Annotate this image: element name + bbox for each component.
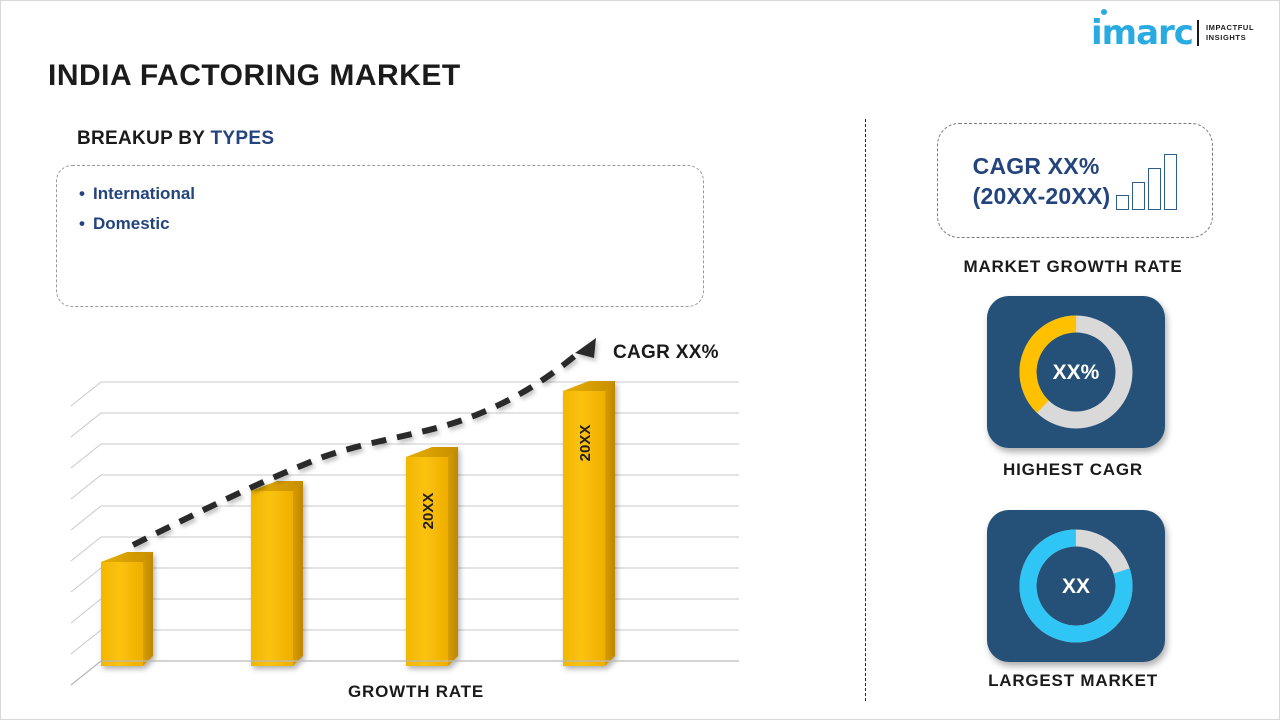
cagr-card-text: CAGR XX% (20XX-20XX) bbox=[973, 151, 1111, 211]
logo-divider bbox=[1197, 20, 1199, 46]
largest-market-caption: LARGEST MARKET bbox=[865, 671, 1280, 691]
chart-x-axis-caption: GROWTH RATE bbox=[348, 682, 484, 702]
largest-market-value: XX bbox=[1062, 575, 1090, 598]
trend-arrowhead bbox=[575, 338, 596, 358]
bar-growth-icon-bar-1 bbox=[1116, 195, 1129, 210]
logo-wordmark: imarc bbox=[1091, 16, 1193, 50]
logo-tagline: IMPACTFUL INSIGHTS bbox=[1206, 23, 1254, 43]
bar-label-4: 20XX bbox=[577, 425, 594, 462]
types-list: International Domestic bbox=[57, 166, 703, 239]
list-item: International bbox=[79, 179, 703, 209]
panel-divider bbox=[865, 119, 866, 701]
breakup-accent: TYPES bbox=[211, 128, 275, 149]
logo-text: imarc bbox=[1091, 13, 1193, 53]
highest-cagr-value: XX% bbox=[1053, 361, 1100, 384]
bar-column-2 bbox=[251, 481, 303, 666]
list-item: Domestic bbox=[79, 209, 703, 239]
logo-tagline-line2: INSIGHTS bbox=[1206, 33, 1254, 43]
chart-gridlines bbox=[71, 382, 739, 685]
types-list-box: International Domestic bbox=[56, 165, 704, 307]
bar-column-3 bbox=[406, 447, 458, 666]
largest-market-tile: XX bbox=[987, 510, 1165, 662]
bar-growth-icon-bar-3 bbox=[1148, 168, 1161, 210]
highest-cagr-donut: XX% bbox=[1010, 306, 1142, 438]
logo-tagline-line1: IMPACTFUL bbox=[1206, 23, 1254, 33]
bar-growth-icon-bar-4 bbox=[1164, 154, 1177, 210]
bar-label-3: 20XX bbox=[420, 493, 437, 530]
bar-growth-icon bbox=[1116, 152, 1177, 210]
bar-column-4 bbox=[563, 381, 615, 666]
market-growth-rate-card: CAGR XX% (20XX-20XX) bbox=[937, 123, 1213, 238]
slide-canvas: imarc IMPACTFUL INSIGHTS INDIA FACTORING… bbox=[0, 0, 1280, 720]
breakup-prefix: BREAKUP BY bbox=[77, 128, 211, 149]
highest-cagr-caption: HIGHEST CAGR bbox=[865, 460, 1280, 480]
cagr-card-line2: (20XX-20XX) bbox=[973, 181, 1111, 211]
trend-line bbox=[133, 338, 596, 545]
trend-cagr-label: CAGR XX% bbox=[613, 342, 719, 364]
bar-growth-icon-bar-2 bbox=[1132, 182, 1145, 210]
logo-dot-icon bbox=[1101, 9, 1107, 15]
bar-column-1 bbox=[101, 552, 153, 666]
page-title: INDIA FACTORING MARKET bbox=[48, 59, 461, 93]
breakup-heading: BREAKUP BY TYPES bbox=[77, 128, 274, 150]
chart-svg: 20XX 20XX bbox=[51, 331, 751, 691]
growth-bar-chart: 20XX 20XX CAGR XX% bbox=[51, 331, 751, 691]
largest-market-donut: XX bbox=[1010, 520, 1142, 652]
market-growth-rate-caption: MARKET GROWTH RATE bbox=[865, 257, 1280, 277]
imarc-logo: imarc IMPACTFUL INSIGHTS bbox=[1091, 13, 1267, 53]
highest-cagr-tile: XX% bbox=[987, 296, 1165, 448]
cagr-card-line1: CAGR XX% bbox=[973, 151, 1111, 181]
